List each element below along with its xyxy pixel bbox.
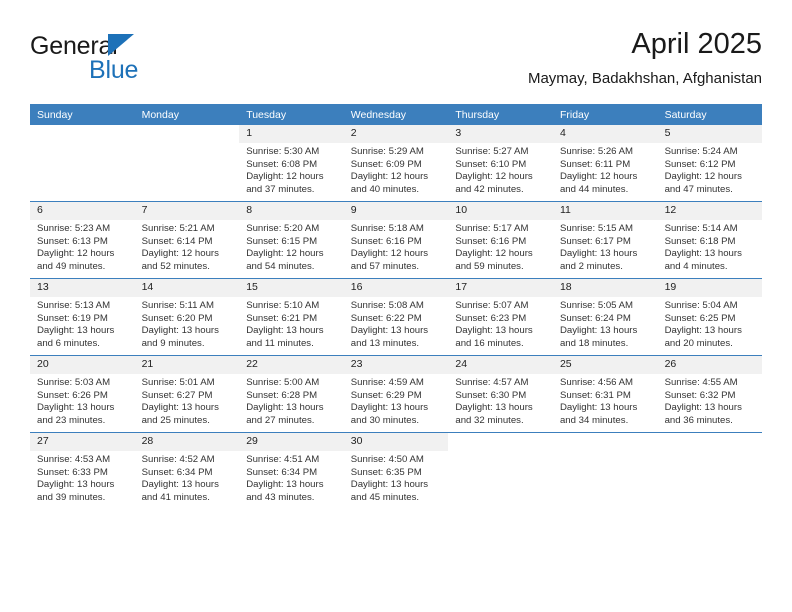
daylight-text-line1: Daylight: 12 hours [351,248,443,261]
weekday-header-thursday: Thursday [448,104,553,125]
sunrise-text: Sunrise: 5:05 AM [560,300,652,313]
sunrise-text: Sunrise: 5:14 AM [665,223,757,236]
weekday-header-wednesday: Wednesday [344,104,449,125]
sunrise-text: Sunrise: 5:08 AM [351,300,443,313]
calendar-week-row: 6Sunrise: 5:23 AMSunset: 6:13 PMDaylight… [30,202,762,279]
sunrise-text: Sunrise: 5:30 AM [246,146,338,159]
calendar-day-cell[interactable]: 2Sunrise: 5:29 AMSunset: 6:09 PMDaylight… [344,125,449,202]
daylight-text-line2: and 42 minutes. [455,184,547,197]
sunrise-text: Sunrise: 5:24 AM [665,146,757,159]
page-subtitle: Maymay, Badakhshan, Afghanistan [528,68,762,90]
daylight-text-line2: and 6 minutes. [37,338,129,351]
sunset-text: Sunset: 6:19 PM [37,313,129,326]
sunset-text: Sunset: 6:35 PM [351,467,443,480]
calendar-day-cell[interactable]: 9Sunrise: 5:18 AMSunset: 6:16 PMDaylight… [344,202,449,279]
title-block: April 2025 Maymay, Badakhshan, Afghanist… [528,26,762,90]
daylight-text-line1: Daylight: 13 hours [351,479,443,492]
day-details: Sunrise: 5:24 AMSunset: 6:12 PMDaylight:… [658,143,763,196]
day-number: 3 [448,125,553,143]
day-number [658,433,763,451]
daylight-text-line1: Daylight: 13 hours [246,479,338,492]
generalblue-logo: General Blue [30,32,240,94]
daylight-text-line2: and 43 minutes. [246,492,338,505]
day-number: 26 [658,356,763,374]
daylight-text-line1: Daylight: 13 hours [142,402,234,415]
day-details: Sunrise: 5:00 AMSunset: 6:28 PMDaylight:… [239,374,344,427]
daylight-text-line2: and 39 minutes. [37,492,129,505]
day-number: 23 [344,356,449,374]
sunrise-text: Sunrise: 5:26 AM [560,146,652,159]
calendar-day-cell[interactable]: 17Sunrise: 5:07 AMSunset: 6:23 PMDayligh… [448,279,553,356]
calendar-day-cell[interactable]: 8Sunrise: 5:20 AMSunset: 6:15 PMDaylight… [239,202,344,279]
calendar-week-row: 1Sunrise: 5:30 AMSunset: 6:08 PMDaylight… [30,125,762,202]
sunrise-text: Sunrise: 5:01 AM [142,377,234,390]
daylight-text-line2: and 11 minutes. [246,338,338,351]
day-number: 8 [239,202,344,220]
daylight-text-line1: Daylight: 13 hours [560,248,652,261]
day-details: Sunrise: 4:51 AMSunset: 6:34 PMDaylight:… [239,451,344,504]
sunrise-text: Sunrise: 5:29 AM [351,146,443,159]
day-number [553,433,658,451]
sunrise-text: Sunrise: 5:23 AM [37,223,129,236]
sunset-text: Sunset: 6:11 PM [560,159,652,172]
calendar-grid: Sunday Monday Tuesday Wednesday Thursday… [30,104,762,509]
sunset-text: Sunset: 6:27 PM [142,390,234,403]
day-details: Sunrise: 5:20 AMSunset: 6:15 PMDaylight:… [239,220,344,273]
daylight-text-line2: and 45 minutes. [351,492,443,505]
sunset-text: Sunset: 6:24 PM [560,313,652,326]
day-details: Sunrise: 5:15 AMSunset: 6:17 PMDaylight:… [553,220,658,273]
sunset-text: Sunset: 6:12 PM [665,159,757,172]
day-number: 14 [135,279,240,297]
calendar-day-cell[interactable]: 18Sunrise: 5:05 AMSunset: 6:24 PMDayligh… [553,279,658,356]
daylight-text-line2: and 23 minutes. [37,415,129,428]
sunset-text: Sunset: 6:32 PM [665,390,757,403]
sunrise-text: Sunrise: 5:00 AM [246,377,338,390]
sunset-text: Sunset: 6:09 PM [351,159,443,172]
daylight-text-line2: and 59 minutes. [455,261,547,274]
sunrise-text: Sunrise: 4:50 AM [351,454,443,467]
daylight-text-line1: Daylight: 12 hours [37,248,129,261]
daylight-text-line1: Daylight: 13 hours [37,402,129,415]
calendar-day-cell[interactable]: 19Sunrise: 5:04 AMSunset: 6:25 PMDayligh… [658,279,763,356]
sunset-text: Sunset: 6:21 PM [246,313,338,326]
sunrise-text: Sunrise: 5:15 AM [560,223,652,236]
daylight-text-line1: Daylight: 13 hours [246,325,338,338]
day-details: Sunrise: 5:18 AMSunset: 6:16 PMDaylight:… [344,220,449,273]
sunset-text: Sunset: 6:34 PM [246,467,338,480]
daylight-text-line1: Daylight: 12 hours [351,171,443,184]
daylight-text-line2: and 44 minutes. [560,184,652,197]
calendar-day-cell[interactable]: 16Sunrise: 5:08 AMSunset: 6:22 PMDayligh… [344,279,449,356]
sunset-text: Sunset: 6:29 PM [351,390,443,403]
daylight-text-line1: Daylight: 12 hours [246,248,338,261]
daylight-text-line2: and 40 minutes. [351,184,443,197]
sunset-text: Sunset: 6:28 PM [246,390,338,403]
calendar-day-cell[interactable]: 14Sunrise: 5:11 AMSunset: 6:20 PMDayligh… [135,279,240,356]
day-number: 11 [553,202,658,220]
daylight-text-line1: Daylight: 12 hours [560,171,652,184]
day-number: 1 [239,125,344,143]
daylight-text-line1: Daylight: 13 hours [37,479,129,492]
day-details: Sunrise: 5:14 AMSunset: 6:18 PMDaylight:… [658,220,763,273]
calendar-day-cell[interactable]: 1Sunrise: 5:30 AMSunset: 6:08 PMDaylight… [239,125,344,202]
sunrise-text: Sunrise: 5:21 AM [142,223,234,236]
sunset-text: Sunset: 6:34 PM [142,467,234,480]
daylight-text-line1: Daylight: 13 hours [351,402,443,415]
sunset-text: Sunset: 6:16 PM [455,236,547,249]
calendar-page: General Blue April 2025 Maymay, Badakhsh… [0,0,792,612]
daylight-text-line1: Daylight: 13 hours [351,325,443,338]
sunset-text: Sunset: 6:30 PM [455,390,547,403]
daylight-text-line2: and 54 minutes. [246,261,338,274]
day-details: Sunrise: 5:30 AMSunset: 6:08 PMDaylight:… [239,143,344,196]
day-details: Sunrise: 4:57 AMSunset: 6:30 PMDaylight:… [448,374,553,427]
day-details: Sunrise: 5:11 AMSunset: 6:20 PMDaylight:… [135,297,240,350]
day-details: Sunrise: 5:23 AMSunset: 6:13 PMDaylight:… [30,220,135,273]
day-details: Sunrise: 4:53 AMSunset: 6:33 PMDaylight:… [30,451,135,504]
day-number: 30 [344,433,449,451]
daylight-text-line1: Daylight: 12 hours [665,171,757,184]
daylight-text-line1: Daylight: 13 hours [246,402,338,415]
calendar-day-cell[interactable]: 24Sunrise: 4:57 AMSunset: 6:30 PMDayligh… [448,356,553,433]
day-number [30,125,135,143]
calendar-day-cell[interactable]: 20Sunrise: 5:03 AMSunset: 6:26 PMDayligh… [30,356,135,433]
daylight-text-line2: and 9 minutes. [142,338,234,351]
day-number: 4 [553,125,658,143]
day-number: 25 [553,356,658,374]
day-details: Sunrise: 5:08 AMSunset: 6:22 PMDaylight:… [344,297,449,350]
calendar-empty-cell [135,125,240,202]
page-title: April 2025 [528,26,762,62]
sunrise-text: Sunrise: 4:55 AM [665,377,757,390]
sunset-text: Sunset: 6:20 PM [142,313,234,326]
day-details: Sunrise: 4:52 AMSunset: 6:34 PMDaylight:… [135,451,240,504]
sunset-text: Sunset: 6:10 PM [455,159,547,172]
calendar-day-cell[interactable]: 7Sunrise: 5:21 AMSunset: 6:14 PMDaylight… [135,202,240,279]
day-details: Sunrise: 5:13 AMSunset: 6:19 PMDaylight:… [30,297,135,350]
daylight-text-line1: Daylight: 13 hours [142,479,234,492]
day-number: 2 [344,125,449,143]
day-number: 19 [658,279,763,297]
daylight-text-line2: and 49 minutes. [37,261,129,274]
day-number: 9 [344,202,449,220]
daylight-text-line2: and 16 minutes. [455,338,547,351]
logo-text-blue: Blue [89,56,138,84]
weekday-header-sunday: Sunday [30,104,135,125]
day-number: 29 [239,433,344,451]
daylight-text-line2: and 47 minutes. [665,184,757,197]
daylight-text-line1: Daylight: 13 hours [665,248,757,261]
sunrise-text: Sunrise: 4:57 AM [455,377,547,390]
daylight-text-line2: and 2 minutes. [560,261,652,274]
calendar-day-cell[interactable]: 28Sunrise: 4:52 AMSunset: 6:34 PMDayligh… [135,433,240,510]
calendar-empty-cell [448,433,553,510]
sunrise-text: Sunrise: 5:11 AM [142,300,234,313]
calendar-day-cell[interactable]: 3Sunrise: 5:27 AMSunset: 6:10 PMDaylight… [448,125,553,202]
daylight-text-line1: Daylight: 12 hours [455,248,547,261]
daylight-text-line2: and 36 minutes. [665,415,757,428]
weekday-header-friday: Friday [553,104,658,125]
daylight-text-line1: Daylight: 13 hours [37,325,129,338]
weekday-header-row: Sunday Monday Tuesday Wednesday Thursday… [30,104,762,125]
calendar-day-cell[interactable]: 4Sunrise: 5:26 AMSunset: 6:11 PMDaylight… [553,125,658,202]
daylight-text-line1: Daylight: 12 hours [455,171,547,184]
daylight-text-line2: and 13 minutes. [351,338,443,351]
calendar-day-cell[interactable]: 15Sunrise: 5:10 AMSunset: 6:21 PMDayligh… [239,279,344,356]
day-number: 22 [239,356,344,374]
daylight-text-line1: Daylight: 13 hours [455,325,547,338]
calendar-day-cell[interactable]: 5Sunrise: 5:24 AMSunset: 6:12 PMDaylight… [658,125,763,202]
day-number: 27 [30,433,135,451]
calendar-week-row: 20Sunrise: 5:03 AMSunset: 6:26 PMDayligh… [30,356,762,433]
calendar-table: Sunday Monday Tuesday Wednesday Thursday… [30,104,762,509]
calendar-body: 1Sunrise: 5:30 AMSunset: 6:08 PMDaylight… [30,125,762,509]
page-header: General Blue April 2025 Maymay, Badakhsh… [30,26,762,98]
day-number: 20 [30,356,135,374]
calendar-day-cell[interactable]: 13Sunrise: 5:13 AMSunset: 6:19 PMDayligh… [30,279,135,356]
calendar-day-cell[interactable]: 23Sunrise: 4:59 AMSunset: 6:29 PMDayligh… [344,356,449,433]
day-number: 21 [135,356,240,374]
sunrise-text: Sunrise: 5:07 AM [455,300,547,313]
sunset-text: Sunset: 6:18 PM [665,236,757,249]
day-number: 10 [448,202,553,220]
day-details: Sunrise: 5:26 AMSunset: 6:11 PMDaylight:… [553,143,658,196]
calendar-day-cell[interactable]: 12Sunrise: 5:14 AMSunset: 6:18 PMDayligh… [658,202,763,279]
daylight-text-line1: Daylight: 13 hours [665,325,757,338]
day-details: Sunrise: 5:03 AMSunset: 6:26 PMDaylight:… [30,374,135,427]
day-details: Sunrise: 5:29 AMSunset: 6:09 PMDaylight:… [344,143,449,196]
daylight-text-line2: and 34 minutes. [560,415,652,428]
weekday-header-saturday: Saturday [658,104,763,125]
sunrise-text: Sunrise: 5:17 AM [455,223,547,236]
daylight-text-line1: Daylight: 13 hours [560,325,652,338]
day-number [448,433,553,451]
calendar-day-cell[interactable]: 27Sunrise: 4:53 AMSunset: 6:33 PMDayligh… [30,433,135,510]
daylight-text-line2: and 25 minutes. [142,415,234,428]
sunset-text: Sunset: 6:25 PM [665,313,757,326]
sunrise-text: Sunrise: 5:27 AM [455,146,547,159]
sunset-text: Sunset: 6:14 PM [142,236,234,249]
day-number [135,125,240,143]
logo-triangle-icon [108,34,134,56]
calendar-day-cell[interactable]: 26Sunrise: 4:55 AMSunset: 6:32 PMDayligh… [658,356,763,433]
day-details: Sunrise: 5:21 AMSunset: 6:14 PMDaylight:… [135,220,240,273]
day-details: Sunrise: 5:01 AMSunset: 6:27 PMDaylight:… [135,374,240,427]
daylight-text-line2: and 52 minutes. [142,261,234,274]
day-number: 15 [239,279,344,297]
daylight-text-line2: and 4 minutes. [665,261,757,274]
calendar-empty-cell [553,433,658,510]
sunset-text: Sunset: 6:15 PM [246,236,338,249]
day-number: 24 [448,356,553,374]
sunrise-text: Sunrise: 5:04 AM [665,300,757,313]
sunset-text: Sunset: 6:31 PM [560,390,652,403]
day-details: Sunrise: 5:04 AMSunset: 6:25 PMDaylight:… [658,297,763,350]
calendar-day-cell[interactable]: 10Sunrise: 5:17 AMSunset: 6:16 PMDayligh… [448,202,553,279]
daylight-text-line2: and 18 minutes. [560,338,652,351]
sunrise-text: Sunrise: 5:20 AM [246,223,338,236]
daylight-text-line2: and 20 minutes. [665,338,757,351]
daylight-text-line1: Daylight: 13 hours [665,402,757,415]
calendar-day-cell[interactable]: 21Sunrise: 5:01 AMSunset: 6:27 PMDayligh… [135,356,240,433]
calendar-week-row: 13Sunrise: 5:13 AMSunset: 6:19 PMDayligh… [30,279,762,356]
day-details: Sunrise: 5:07 AMSunset: 6:23 PMDaylight:… [448,297,553,350]
sunrise-text: Sunrise: 4:51 AM [246,454,338,467]
calendar-day-cell[interactable]: 30Sunrise: 4:50 AMSunset: 6:35 PMDayligh… [344,433,449,510]
day-details: Sunrise: 5:05 AMSunset: 6:24 PMDaylight:… [553,297,658,350]
daylight-text-line2: and 30 minutes. [351,415,443,428]
daylight-text-line2: and 32 minutes. [455,415,547,428]
day-number: 6 [30,202,135,220]
day-number: 12 [658,202,763,220]
day-number: 5 [658,125,763,143]
sunset-text: Sunset: 6:26 PM [37,390,129,403]
day-number: 18 [553,279,658,297]
daylight-text-line2: and 37 minutes. [246,184,338,197]
day-number: 7 [135,202,240,220]
weekday-header-tuesday: Tuesday [239,104,344,125]
daylight-text-line1: Daylight: 13 hours [455,402,547,415]
day-details: Sunrise: 4:59 AMSunset: 6:29 PMDaylight:… [344,374,449,427]
day-number: 17 [448,279,553,297]
sunset-text: Sunset: 6:17 PM [560,236,652,249]
sunrise-text: Sunrise: 4:52 AM [142,454,234,467]
sunrise-text: Sunrise: 5:18 AM [351,223,443,236]
sunrise-text: Sunrise: 4:56 AM [560,377,652,390]
day-details: Sunrise: 4:55 AMSunset: 6:32 PMDaylight:… [658,374,763,427]
day-details: Sunrise: 4:50 AMSunset: 6:35 PMDaylight:… [344,451,449,504]
daylight-text-line2: and 27 minutes. [246,415,338,428]
daylight-text-line1: Daylight: 12 hours [246,171,338,184]
sunrise-text: Sunrise: 4:53 AM [37,454,129,467]
calendar-week-row: 27Sunrise: 4:53 AMSunset: 6:33 PMDayligh… [30,433,762,510]
calendar-day-cell[interactable]: 29Sunrise: 4:51 AMSunset: 6:34 PMDayligh… [239,433,344,510]
sunset-text: Sunset: 6:16 PM [351,236,443,249]
sunset-text: Sunset: 6:13 PM [37,236,129,249]
day-details: Sunrise: 4:56 AMSunset: 6:31 PMDaylight:… [553,374,658,427]
sunrise-text: Sunrise: 5:03 AM [37,377,129,390]
weekday-header-monday: Monday [135,104,240,125]
sunset-text: Sunset: 6:22 PM [351,313,443,326]
calendar-empty-cell [658,433,763,510]
sunset-text: Sunset: 6:33 PM [37,467,129,480]
daylight-text-line2: and 57 minutes. [351,261,443,274]
daylight-text-line1: Daylight: 13 hours [560,402,652,415]
sunrise-text: Sunrise: 4:59 AM [351,377,443,390]
sunrise-text: Sunrise: 5:13 AM [37,300,129,313]
calendar-day-cell[interactable]: 11Sunrise: 5:15 AMSunset: 6:17 PMDayligh… [553,202,658,279]
calendar-day-cell[interactable]: 22Sunrise: 5:00 AMSunset: 6:28 PMDayligh… [239,356,344,433]
calendar-empty-cell [30,125,135,202]
sunrise-text: Sunrise: 5:10 AM [246,300,338,313]
daylight-text-line1: Daylight: 12 hours [142,248,234,261]
sunset-text: Sunset: 6:23 PM [455,313,547,326]
daylight-text-line2: and 41 minutes. [142,492,234,505]
day-details: Sunrise: 5:10 AMSunset: 6:21 PMDaylight:… [239,297,344,350]
calendar-day-cell[interactable]: 6Sunrise: 5:23 AMSunset: 6:13 PMDaylight… [30,202,135,279]
day-details: Sunrise: 5:27 AMSunset: 6:10 PMDaylight:… [448,143,553,196]
daylight-text-line1: Daylight: 13 hours [142,325,234,338]
day-details: Sunrise: 5:17 AMSunset: 6:16 PMDaylight:… [448,220,553,273]
day-number: 13 [30,279,135,297]
day-number: 16 [344,279,449,297]
day-number: 28 [135,433,240,451]
calendar-day-cell[interactable]: 25Sunrise: 4:56 AMSunset: 6:31 PMDayligh… [553,356,658,433]
sunset-text: Sunset: 6:08 PM [246,159,338,172]
